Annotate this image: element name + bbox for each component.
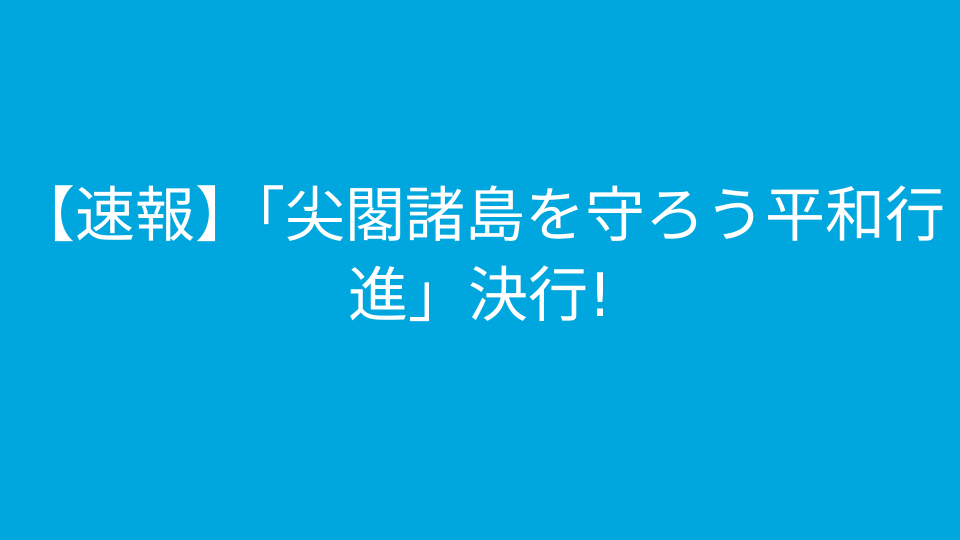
title-card: 【速報】「尖閣諸島を守ろう平和行 進」決行! bbox=[0, 0, 960, 540]
headline-text: 【速報】「尖閣諸島を守ろう平和行 進」決行! bbox=[0, 176, 960, 336]
